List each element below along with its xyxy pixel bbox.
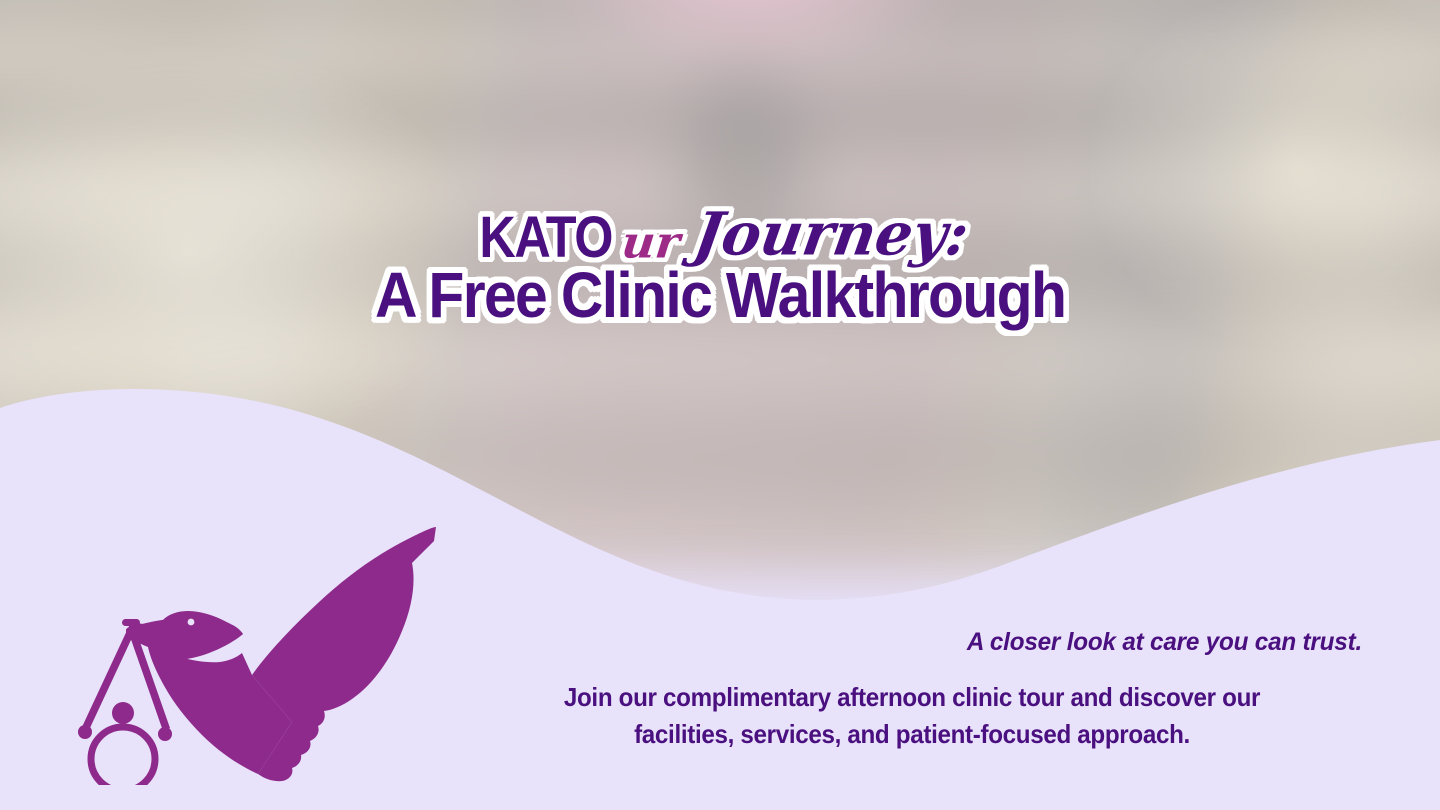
stork-icon xyxy=(60,485,460,785)
tagline-text: A closer look at care you can trust. xyxy=(489,628,1362,657)
title-script-suffix: ur xyxy=(620,220,682,264)
body-copy: Join our complimentary afternoon clinic … xyxy=(494,679,1331,753)
poster-canvas: KATOurJourney: A Free Clinic Walkthrough xyxy=(0,0,1440,810)
body-copy-line-1: Join our complimentary afternoon clinic … xyxy=(494,679,1331,716)
title-line-2: A Free Clinic Walkthrough xyxy=(0,263,1440,327)
brand-name-kato: KATO xyxy=(480,208,613,266)
page-title: KATOurJourney: A Free Clinic Walkthrough xyxy=(0,205,1440,327)
title-script-journey: Journey: xyxy=(690,204,972,263)
title-line-1: KATOurJourney: xyxy=(0,205,1440,267)
body-copy-line-2: facilities, services, and patient-focuse… xyxy=(494,716,1331,753)
copy-block: A closer look at care you can trust. Joi… xyxy=(462,628,1362,753)
title-subtitle-text: A Free Clinic Walkthrough xyxy=(375,263,1065,327)
